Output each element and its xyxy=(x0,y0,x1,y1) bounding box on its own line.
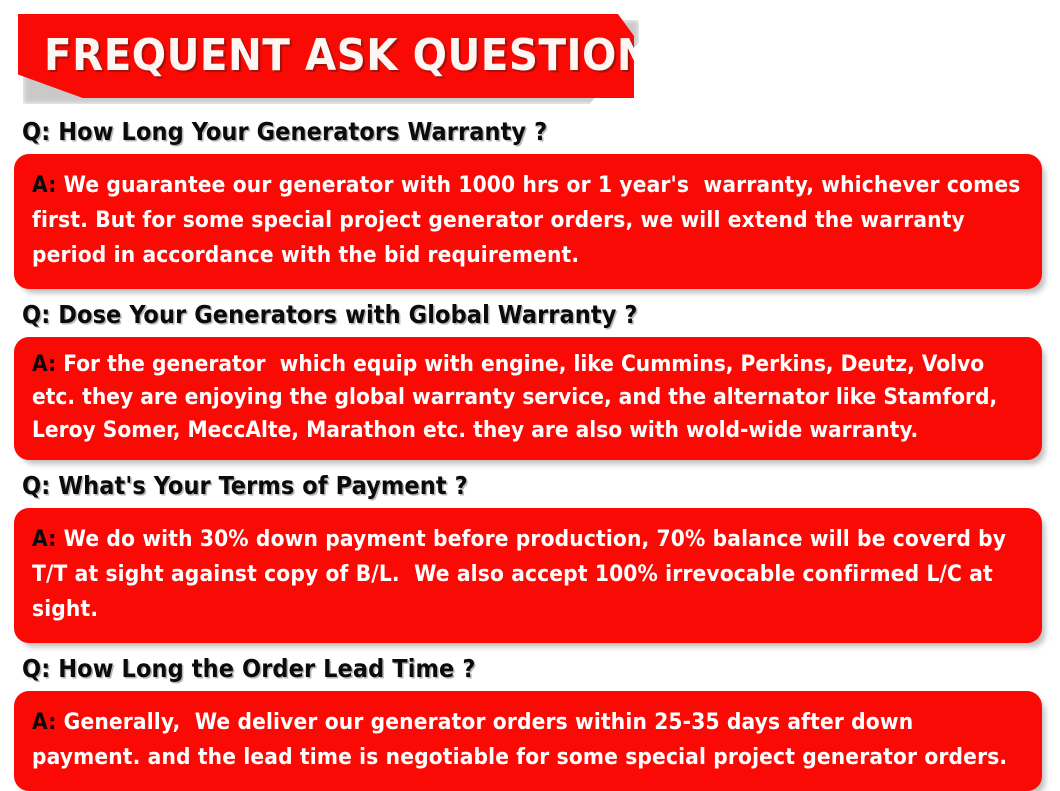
faq-answer-box: A: Generally, We deliver our generator o… xyxy=(14,691,1042,791)
answer-prefix: A: xyxy=(32,172,56,198)
faq-answer-box: A: We guarantee our generator with 1000 … xyxy=(14,154,1042,289)
answer-prefix: A: xyxy=(32,526,56,552)
faq-question: Q: Dose Your Generators with Global Warr… xyxy=(0,289,1060,337)
faq-page: FREQUENT ASK QUESTIONS Q: How Long Your … xyxy=(0,0,1060,745)
faq-answer-text: A: We guarantee our generator with 1000 … xyxy=(32,168,1024,273)
answer-body: Generally, We deliver our generator orde… xyxy=(32,709,1007,770)
faq-answer-wrapper: A: Generally, We deliver our generator o… xyxy=(14,691,1042,791)
faq-item: Q: Dose Your Generators with Global Warr… xyxy=(0,289,1060,460)
faq-list: Q: How Long Your Generators Warranty ? A… xyxy=(0,106,1060,791)
faq-item: Q: How Long the Order Lead Time ? A: Gen… xyxy=(0,643,1060,791)
faq-answer-wrapper: A: For the generator which equip with en… xyxy=(14,337,1042,460)
answer-body: We guarantee our generator with 1000 hrs… xyxy=(32,172,1028,268)
faq-answer-wrapper: A: We do with 30% down payment before pr… xyxy=(14,508,1042,643)
faq-question: Q: What's Your Terms of Payment ? xyxy=(0,460,1060,508)
faq-answer-box: A: We do with 30% down payment before pr… xyxy=(14,508,1042,643)
answer-prefix: A: xyxy=(32,709,56,735)
faq-item: Q: What's Your Terms of Payment ? A: We … xyxy=(0,460,1060,643)
answer-body: For the generator which equip with engin… xyxy=(32,351,1004,443)
faq-question: Q: How Long Your Generators Warranty ? xyxy=(0,106,1060,154)
faq-answer-wrapper: A: We guarantee our generator with 1000 … xyxy=(14,154,1042,289)
faq-answer-text: A: We do with 30% down payment before pr… xyxy=(32,522,1024,627)
header-banner-shape: FREQUENT ASK QUESTIONS xyxy=(18,14,634,98)
faq-answer-text: A: Generally, We deliver our generator o… xyxy=(32,705,1024,775)
answer-prefix: A: xyxy=(32,351,56,377)
answer-body: We do with 30% down payment before produ… xyxy=(32,526,1013,622)
faq-answer-text: A: For the generator which equip with en… xyxy=(32,348,1024,447)
faq-item: Q: How Long Your Generators Warranty ? A… xyxy=(0,106,1060,289)
faq-answer-box: A: For the generator which equip with en… xyxy=(14,337,1042,460)
faq-question: Q: How Long the Order Lead Time ? xyxy=(0,643,1060,691)
page-title: FREQUENT ASK QUESTIONS xyxy=(44,34,681,78)
header-banner: FREQUENT ASK QUESTIONS xyxy=(18,14,634,98)
